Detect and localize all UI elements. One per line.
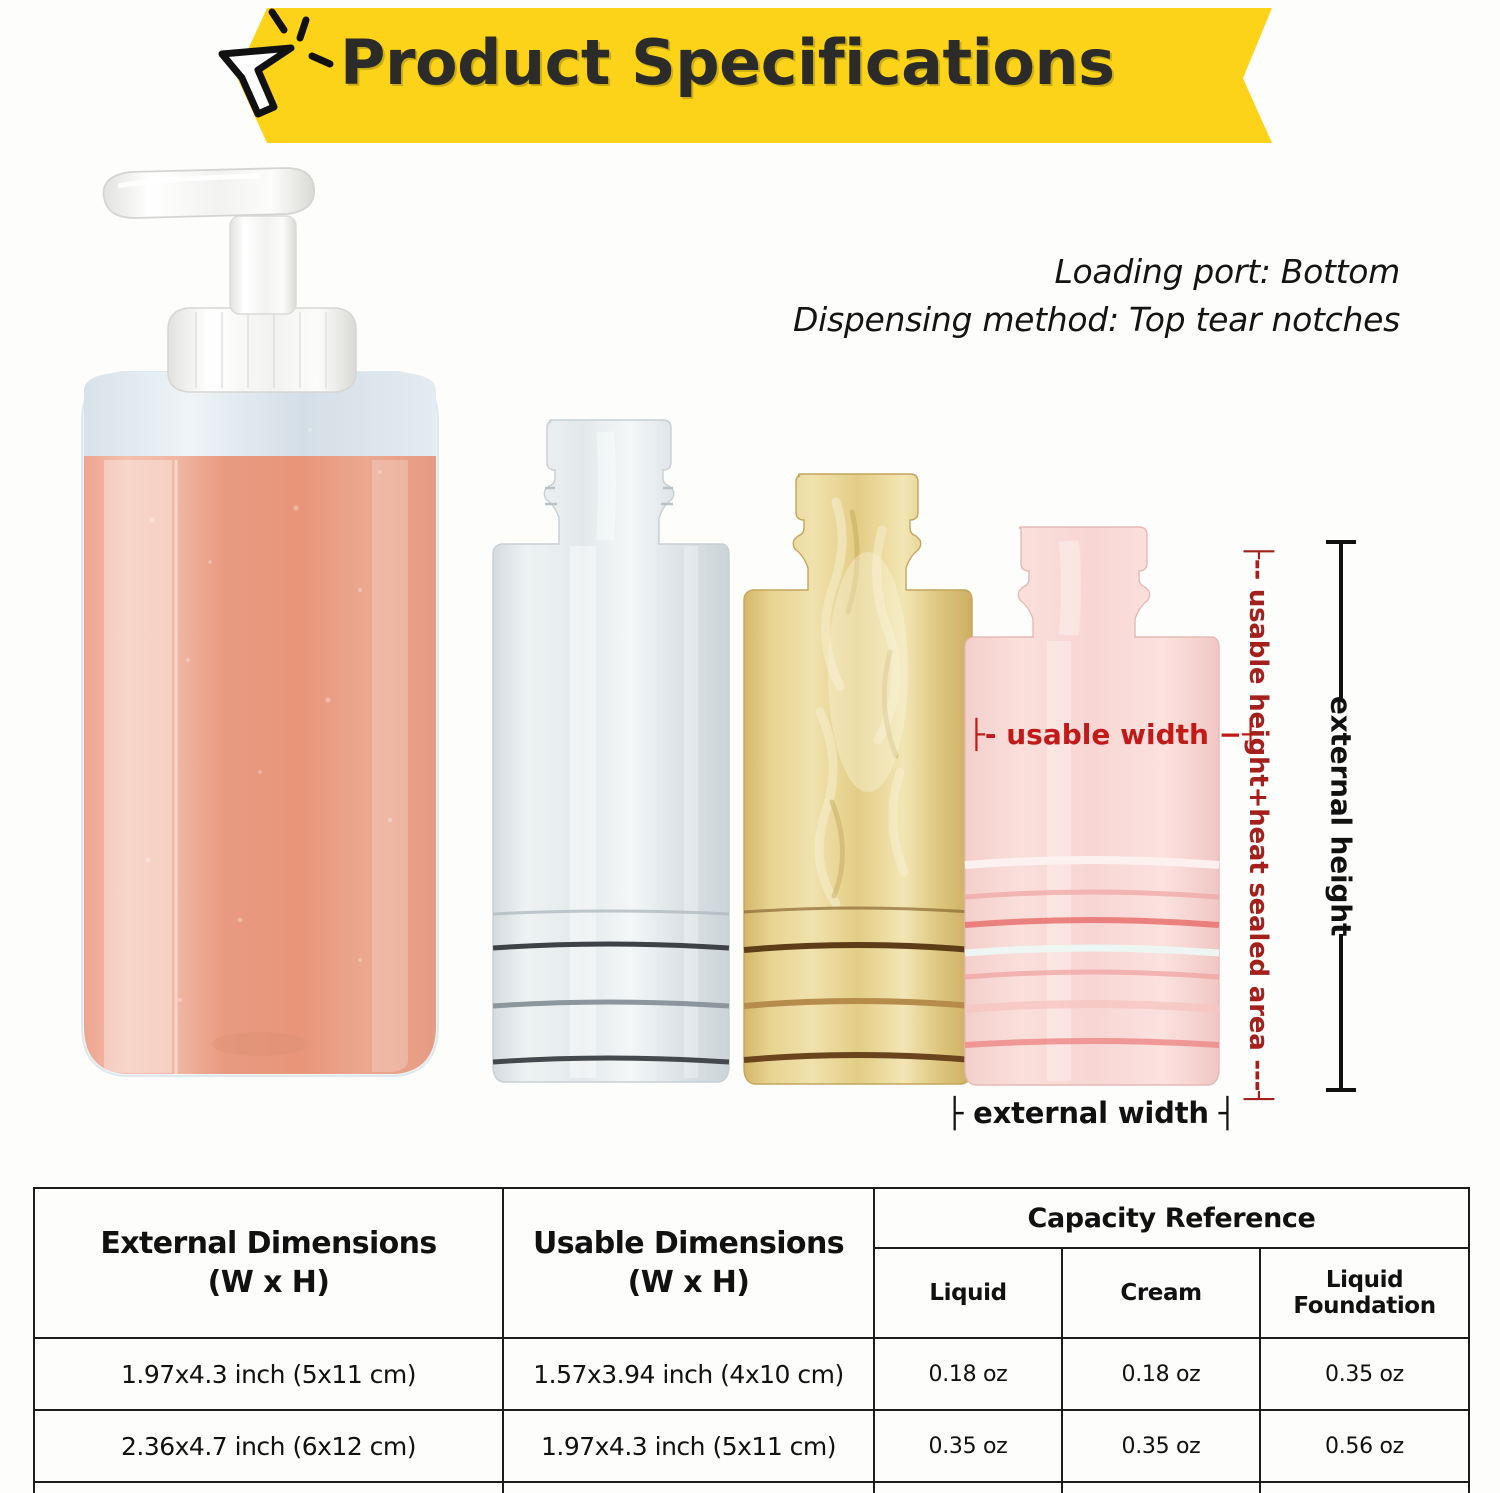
loading-port-note: Loading port: Bottom (700, 248, 1400, 296)
usable-height-annotation: ├-- usable height+heat sealed area ---┤ (1238, 560, 1278, 1090)
table-row: 2.36x4.7 inch (6x12 cm) 1.97x4.3 inch (5… (34, 1410, 1469, 1482)
cell-liquid: 0.18 oz (874, 1338, 1062, 1410)
cell-usable-dimension: 1.57x3.94 inch (4x10 cm) (503, 1338, 874, 1410)
external-height-annotation-text: external height (1325, 696, 1358, 936)
dispensing-method-note: Dispensing method: Top tear notches (700, 296, 1400, 344)
table-row: 2.95x5.1 inch (7.5x13 cm) 2.56x4.7 inch … (34, 1482, 1469, 1493)
header-usable-dimensions-title: Usable Dimensions (508, 1224, 869, 1263)
cell-cream: 0.88 oz (1062, 1482, 1260, 1493)
sachet-pink (963, 525, 1221, 1090)
cell-liquid-foundation: 0.35 oz (1260, 1338, 1469, 1410)
header-external-dimensions: External Dimensions (W x H) (34, 1188, 503, 1338)
header-liquid-foundation: Liquid Foundation (1260, 1248, 1469, 1338)
usable-height-annotation-text: ├-- usable height+heat sealed area ---┤ (1243, 543, 1273, 1106)
cell-liquid: 0.35 oz (874, 1410, 1062, 1482)
table-header-row-1: External Dimensions (W x H) Usable Dimen… (34, 1188, 1469, 1248)
header-external-dimensions-title: External Dimensions (39, 1224, 498, 1263)
cell-liquid-foundation: 1.16 oz (1260, 1482, 1469, 1493)
pump-dispenser-bottle (60, 160, 460, 1090)
external-height-annotation: external height (1318, 538, 1364, 1094)
spec-notes: Loading port: Bottom Dispensing method: … (700, 248, 1400, 344)
specifications-table: External Dimensions (W x H) Usable Dimen… (33, 1187, 1470, 1493)
header-capacity-reference: Capacity Reference (874, 1188, 1469, 1248)
cell-usable-dimension: 1.97x4.3 inch (5x11 cm) (503, 1410, 874, 1482)
header-cream: Cream (1062, 1248, 1260, 1338)
header-liquid: Liquid (874, 1248, 1062, 1338)
cell-usable-dimension: 2.56x4.7 inch (6.5x12 cm) (503, 1482, 874, 1493)
cell-cream: 0.35 oz (1062, 1410, 1260, 1482)
table-row: 1.97x4.3 inch (5x11 cm) 1.57x3.94 inch (… (34, 1338, 1469, 1410)
external-width-annotation: ├ external width ┤ (946, 1096, 1236, 1130)
cell-external-dimension: 2.36x4.7 inch (6x12 cm) (34, 1410, 503, 1482)
header-banner: Product Specifications (0, 0, 1500, 150)
cell-cream: 0.18 oz (1062, 1338, 1260, 1410)
sachet-gold (740, 472, 973, 1090)
header-external-dimensions-unit: (W x H) (39, 1263, 498, 1302)
usable-width-annotation: ├- usable width −┤ (968, 718, 1259, 751)
sachet-white (487, 418, 730, 1090)
cursor-click-icon (196, 8, 346, 138)
cell-liquid: 0.88 oz (874, 1482, 1062, 1493)
header-usable-dimensions-unit: (W x H) (508, 1263, 869, 1302)
cell-external-dimension: 1.97x4.3 inch (5x11 cm) (34, 1338, 503, 1410)
cell-external-dimension: 2.95x5.1 inch (7.5x13 cm) (34, 1482, 503, 1493)
cell-liquid-foundation: 0.56 oz (1260, 1410, 1469, 1482)
page-title: Product Specifications (340, 26, 1210, 99)
product-specification-page: Product Specifications Loading port: Bot… (0, 0, 1500, 1493)
header-usable-dimensions: Usable Dimensions (W x H) (503, 1188, 874, 1338)
